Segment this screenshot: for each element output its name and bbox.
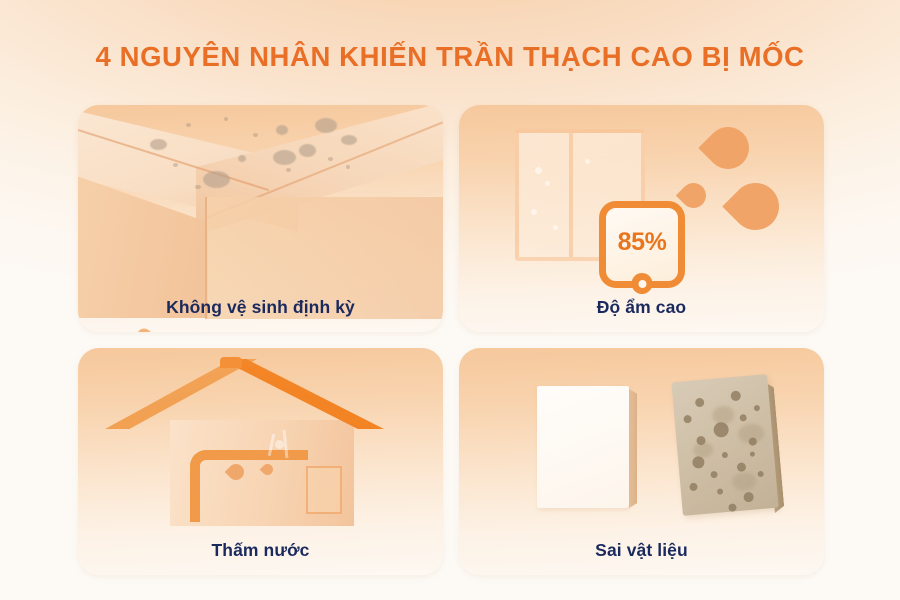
window-sheen bbox=[531, 209, 537, 215]
water-drop-icon bbox=[722, 173, 788, 239]
mold-dot bbox=[730, 390, 741, 401]
humidity-value: 85% bbox=[606, 228, 678, 257]
mold-spot-icon bbox=[150, 139, 167, 150]
water-splash bbox=[275, 440, 284, 449]
water-drop-icon bbox=[698, 118, 757, 177]
mold-dot bbox=[713, 422, 729, 438]
mold-speck-icon bbox=[328, 157, 333, 161]
mold-speck-icon bbox=[195, 185, 201, 189]
card-label: Độ ẩm cao bbox=[459, 297, 824, 318]
mold-dot bbox=[722, 452, 729, 459]
ceiling-icon bbox=[78, 105, 443, 305]
cards-grid: Không vệ sinh định kỳ 85% bbox=[78, 105, 824, 565]
mold-dot bbox=[743, 492, 754, 503]
window-sheen bbox=[585, 159, 590, 164]
window-sheen bbox=[535, 167, 542, 174]
card-khong-ve-sinh-dinh-ky[interactable]: Không vệ sinh định kỳ bbox=[78, 105, 443, 332]
mold-dot bbox=[754, 405, 761, 412]
mold-speck-icon bbox=[346, 165, 350, 169]
mold-dot bbox=[689, 483, 698, 492]
mold-smudge bbox=[732, 471, 757, 491]
mold-dot bbox=[748, 437, 757, 446]
mold-spot-icon bbox=[203, 171, 230, 188]
humidity-meter-icon: 85% bbox=[599, 201, 685, 288]
card-sai-vat-lieu[interactable]: Sai vật liệu bbox=[459, 348, 824, 575]
mold-dot bbox=[695, 398, 705, 408]
brush-head bbox=[124, 326, 169, 332]
moldy-gypsum-board-icon bbox=[671, 374, 778, 516]
mold-speck-icon bbox=[224, 117, 228, 121]
pipe-icon bbox=[190, 450, 266, 522]
mold-spot-icon bbox=[341, 135, 357, 145]
house-window-icon bbox=[306, 466, 342, 514]
card-label: Không vệ sinh định kỳ bbox=[78, 297, 443, 318]
clean-board-edge bbox=[629, 389, 637, 508]
card-do-am-cao[interactable]: 85% Độ ẩm cao bbox=[459, 105, 824, 332]
clean-gypsum-board-icon bbox=[537, 386, 629, 508]
card-label: Sai vật liệu bbox=[459, 540, 824, 561]
card-tham-nuoc[interactable]: Thấm nước bbox=[78, 348, 443, 575]
mold-speck-icon bbox=[186, 123, 191, 127]
mold-spot-icon bbox=[273, 150, 296, 165]
humidity-meter-knob bbox=[632, 273, 653, 294]
window-sheen bbox=[545, 181, 550, 186]
window-mullion bbox=[569, 133, 573, 257]
mold-speck-icon bbox=[253, 133, 258, 137]
mold-speck-icon bbox=[286, 168, 291, 172]
mold-dot bbox=[728, 503, 737, 512]
infographic-page: 4 NGUYÊN NHÂN KHIẾN TRẦN THẠCH CAO BỊ MỐ… bbox=[0, 0, 900, 600]
mold-dot bbox=[683, 415, 692, 424]
window-sheen bbox=[553, 225, 558, 230]
mold-dot bbox=[710, 471, 718, 479]
mold-dot bbox=[757, 471, 764, 478]
mold-dot bbox=[750, 451, 755, 456]
pipe-arm bbox=[256, 450, 308, 460]
house-roof-right bbox=[220, 359, 384, 429]
house-roof-left bbox=[105, 359, 257, 429]
mold-spot-icon bbox=[238, 155, 246, 162]
page-title: 4 NGUYÊN NHÂN KHIẾN TRẦN THẠCH CAO BỊ MỐ… bbox=[0, 40, 900, 74]
mold-dot bbox=[737, 462, 747, 472]
mold-dot bbox=[739, 414, 747, 422]
mold-spot-icon bbox=[276, 125, 288, 135]
mold-spot-icon bbox=[315, 118, 337, 133]
mold-speck-icon bbox=[173, 163, 178, 167]
house-roof-ridge bbox=[220, 357, 242, 368]
mold-dot bbox=[692, 456, 705, 469]
mold-dot bbox=[717, 488, 724, 495]
card-label: Thấm nước bbox=[78, 540, 443, 561]
mold-spot-icon bbox=[299, 144, 316, 157]
